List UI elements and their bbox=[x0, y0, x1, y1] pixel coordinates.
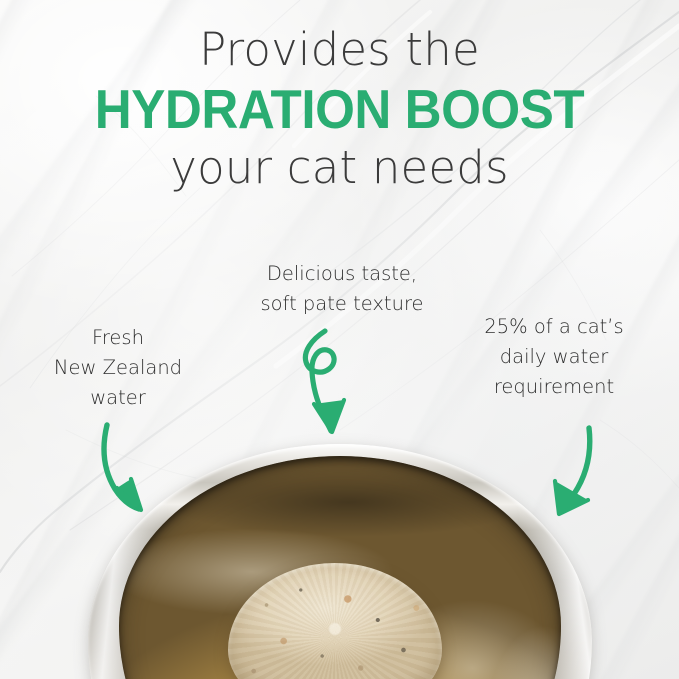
pate-texture bbox=[228, 563, 442, 679]
headline-line-1: Provides the bbox=[0, 22, 679, 78]
cat-food-pate bbox=[228, 563, 442, 679]
headline-line-3: your cat needs bbox=[0, 140, 679, 196]
pet-bowl bbox=[0, 430, 679, 679]
callout-delicious-taste-soft-pate-texture: Delicious taste, soft pate texture bbox=[244, 259, 440, 319]
callout-daily-water-requirement: 25% of a cat’s daily water requirement bbox=[466, 312, 642, 402]
callout-fresh-new-zealand-water: Fresh New Zealand water bbox=[38, 323, 198, 413]
headline-block: Provides the HYDRATION BOOST your cat ne… bbox=[0, 22, 679, 196]
marketing-image: Provides the HYDRATION BOOST your cat ne… bbox=[0, 0, 679, 679]
headline-line-2-hydration-boost: HYDRATION BOOST bbox=[24, 78, 655, 140]
